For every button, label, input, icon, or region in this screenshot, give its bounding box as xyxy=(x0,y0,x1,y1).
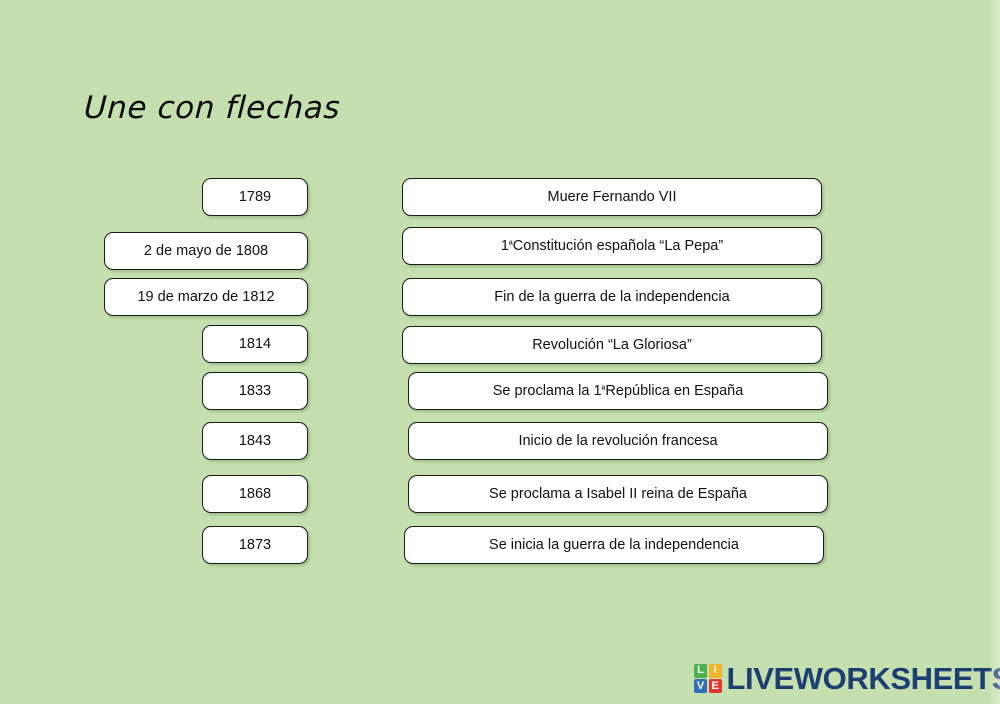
event-box-2[interactable]: 1ª Constitución española “La Pepa” xyxy=(402,227,822,265)
date-box-2[interactable]: 2 de mayo de 1808 xyxy=(104,232,308,270)
event-box-6[interactable]: Inicio de la revolución francesa xyxy=(408,422,828,460)
date-box-7[interactable]: 1868 xyxy=(202,475,308,513)
event-box-3[interactable]: Fin de la guerra de la independencia xyxy=(402,278,822,316)
matching-columns: 1789 2 de mayo de 1808 19 de marzo de 18… xyxy=(0,0,1000,704)
logo-tile-l: L xyxy=(694,664,707,678)
liveworksheets-logo: L I V E LIVEWORKSHEETS xyxy=(694,663,1000,694)
date-box-6[interactable]: 1843 xyxy=(202,422,308,460)
logo-tile-e: E xyxy=(709,679,722,693)
date-box-8[interactable]: 1873 xyxy=(202,526,308,564)
logo-wordmark: LIVEWORKSHEETS xyxy=(727,663,1000,694)
worksheet-canvas: Une con flechas 1789 2 de mayo de 1808 1… xyxy=(0,0,1000,704)
date-box-3[interactable]: 19 de marzo de 1812 xyxy=(104,278,308,316)
event-box-8[interactable]: Se inicia la guerra de la independencia xyxy=(404,526,824,564)
event-box-5[interactable]: Se proclama la 1ª República en España xyxy=(408,372,828,410)
event-box-7[interactable]: Se proclama a Isabel II reina de España xyxy=(408,475,828,513)
event-box-1[interactable]: Muere Fernando VII xyxy=(402,178,822,216)
logo-tile-i: I xyxy=(709,664,722,678)
logo-tile-v: V xyxy=(694,679,707,693)
logo-tiles: L I V E xyxy=(694,664,722,694)
event-box-4[interactable]: Revolución “La Gloriosa” xyxy=(402,326,822,364)
date-box-1[interactable]: 1789 xyxy=(202,178,308,216)
date-box-5[interactable]: 1833 xyxy=(202,372,308,410)
date-box-4[interactable]: 1814 xyxy=(202,325,308,363)
